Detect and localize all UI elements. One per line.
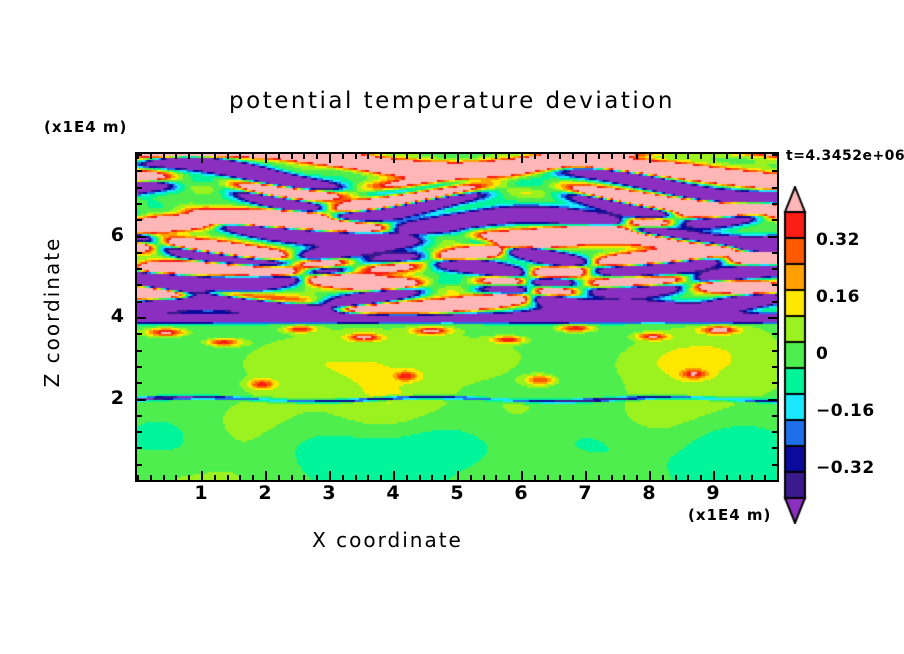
axis-tick [772, 252, 777, 254]
colorbar-tick-label: −0.32 [816, 458, 875, 478]
axis-tick [772, 187, 777, 189]
timestamp-annotation: t=4.3452e+06 [786, 148, 904, 164]
axis-tick [291, 475, 293, 480]
axis-tick [367, 475, 369, 480]
axis-tick [649, 154, 651, 163]
axis-tick [772, 284, 777, 286]
axis-tick [393, 471, 395, 480]
axis-tick [772, 170, 777, 172]
axis-tick [265, 471, 267, 480]
axis-tick [611, 154, 613, 159]
axis-tick [239, 475, 241, 480]
axis-tick [137, 301, 142, 303]
axis-tick [163, 475, 165, 480]
x-axis-unit-label: (x1E4 m) [688, 506, 771, 524]
axis-tick [559, 154, 561, 159]
axis-tick [278, 154, 280, 159]
axis-tick [772, 268, 777, 270]
axis-tick [406, 154, 408, 159]
axis-tick [772, 350, 777, 352]
axis-tick [675, 475, 677, 480]
axis-tick [137, 317, 146, 319]
axis-tick [137, 447, 142, 449]
axis-tick [406, 475, 408, 480]
axis-tick [355, 475, 357, 480]
axis-tick [137, 480, 142, 482]
axis-tick [649, 471, 651, 480]
axis-tick [559, 475, 561, 480]
axis-tick [547, 154, 549, 159]
axis-tick [534, 154, 536, 159]
axis-tick [329, 471, 331, 480]
axis-tick [572, 154, 574, 159]
axis-tick [355, 154, 357, 159]
axis-tick [772, 154, 777, 156]
axis-tick [768, 236, 777, 238]
axis-tick [483, 475, 485, 480]
axis-tick [201, 471, 203, 480]
x-tick-label: 9 [693, 482, 733, 504]
axis-tick [675, 154, 677, 159]
axis-tick [150, 475, 152, 480]
axis-tick [534, 475, 536, 480]
x-tick-label: 3 [309, 482, 349, 504]
axis-tick [380, 475, 382, 480]
axis-tick [662, 154, 664, 159]
colorbar-canvas [778, 186, 812, 524]
axis-tick [611, 475, 613, 480]
axis-tick [772, 366, 777, 368]
axis-tick [137, 382, 142, 384]
axis-tick [380, 154, 382, 159]
axis-tick [137, 154, 142, 156]
axis-tick [585, 154, 587, 163]
axis-tick [772, 431, 777, 433]
axis-tick [495, 154, 497, 159]
axis-tick [175, 475, 177, 480]
axis-tick [137, 219, 142, 221]
axis-tick [521, 154, 523, 163]
axis-tick [444, 475, 446, 480]
axis-tick [700, 475, 702, 480]
x-tick-label: 2 [245, 482, 285, 504]
axis-tick [739, 475, 741, 480]
axis-tick [137, 366, 142, 368]
axis-tick [239, 154, 241, 159]
axis-tick [137, 431, 142, 433]
axis-tick [772, 464, 777, 466]
axis-tick [772, 301, 777, 303]
axis-tick [508, 154, 510, 159]
axis-tick [772, 447, 777, 449]
colorbar-tick-label: 0 [816, 344, 828, 364]
axis-tick [713, 471, 715, 480]
axis-tick [457, 471, 459, 480]
axis-tick [772, 333, 777, 335]
axis-tick [419, 154, 421, 159]
axis-tick [303, 475, 305, 480]
axis-tick [278, 475, 280, 480]
axis-tick [214, 154, 216, 159]
x-tick-label: 5 [437, 482, 477, 504]
axis-tick [137, 350, 142, 352]
axis-tick [316, 475, 318, 480]
axis-tick [265, 154, 267, 163]
axis-tick [623, 154, 625, 159]
axis-tick [252, 475, 254, 480]
axis-tick [137, 236, 146, 238]
x-tick-label: 1 [181, 482, 221, 504]
axis-tick [163, 154, 165, 159]
axis-tick [726, 475, 728, 480]
axis-tick [687, 475, 689, 480]
axis-tick [772, 480, 777, 482]
axis-tick [751, 475, 753, 480]
axis-tick [175, 154, 177, 159]
axis-tick [483, 154, 485, 159]
axis-tick [768, 317, 777, 319]
axis-tick [431, 154, 433, 159]
axis-tick [623, 475, 625, 480]
axis-tick [508, 475, 510, 480]
colorbar [778, 186, 812, 524]
axis-tick [444, 154, 446, 159]
axis-tick [739, 154, 741, 159]
x-tick-label: 8 [629, 482, 669, 504]
axis-tick [726, 154, 728, 159]
axis-tick [572, 475, 574, 480]
axis-tick [495, 475, 497, 480]
axis-tick [137, 464, 142, 466]
axis-tick [636, 154, 638, 159]
y-axis-title: Z coordinate [40, 227, 64, 397]
z-axis-unit-label: (x1E4 m) [44, 118, 127, 136]
axis-tick [201, 154, 203, 163]
axis-tick [291, 154, 293, 159]
axis-tick [419, 475, 421, 480]
axis-tick [367, 154, 369, 159]
axis-tick [772, 415, 777, 417]
axis-tick [764, 475, 766, 480]
axis-tick [137, 415, 142, 417]
axis-tick [598, 154, 600, 159]
axis-tick [227, 154, 229, 159]
axis-tick [470, 475, 472, 480]
axis-tick [772, 203, 777, 205]
axis-tick [768, 399, 777, 401]
axis-tick [150, 154, 152, 159]
axis-tick [214, 475, 216, 480]
axis-tick [303, 154, 305, 159]
colorbar-tick-label: −0.16 [816, 401, 875, 421]
axis-tick [777, 154, 779, 159]
contour-field-canvas [137, 154, 777, 480]
axis-tick [431, 475, 433, 480]
axis-tick [457, 154, 459, 163]
axis-tick [598, 475, 600, 480]
colorbar-tick-label: 0.16 [816, 287, 860, 307]
axis-tick [316, 154, 318, 159]
colorbar-tick-label: 0.32 [816, 230, 860, 250]
x-tick-label: 7 [565, 482, 605, 504]
axis-tick [137, 268, 142, 270]
axis-tick [137, 170, 142, 172]
axis-tick [393, 154, 395, 163]
axis-tick [137, 399, 146, 401]
axis-tick [751, 154, 753, 159]
x-axis-title: X coordinate [0, 528, 775, 552]
axis-tick [137, 333, 142, 335]
axis-tick [188, 475, 190, 480]
axis-tick [137, 284, 142, 286]
axis-tick [772, 382, 777, 384]
axis-tick [227, 475, 229, 480]
axis-tick [342, 475, 344, 480]
axis-tick [687, 154, 689, 159]
chart-title: potential temperature deviation [0, 88, 904, 114]
axis-tick [342, 154, 344, 159]
y-tick-label: 2 [96, 387, 124, 409]
axis-tick [636, 475, 638, 480]
axis-tick [700, 154, 702, 159]
axis-tick [470, 154, 472, 159]
contour-plot-area [135, 152, 779, 482]
axis-tick [329, 154, 331, 163]
axis-tick [764, 154, 766, 159]
x-tick-label: 6 [501, 482, 541, 504]
axis-tick [521, 471, 523, 480]
axis-tick [772, 219, 777, 221]
axis-tick [662, 475, 664, 480]
axis-tick [585, 471, 587, 480]
axis-tick [252, 154, 254, 159]
axis-tick [713, 154, 715, 163]
axis-tick [137, 203, 142, 205]
y-tick-label: 6 [96, 224, 124, 246]
axis-tick [188, 154, 190, 159]
axis-tick [137, 187, 142, 189]
x-tick-label: 4 [373, 482, 413, 504]
y-tick-label: 4 [96, 305, 124, 327]
axis-tick [547, 475, 549, 480]
axis-tick [137, 252, 142, 254]
